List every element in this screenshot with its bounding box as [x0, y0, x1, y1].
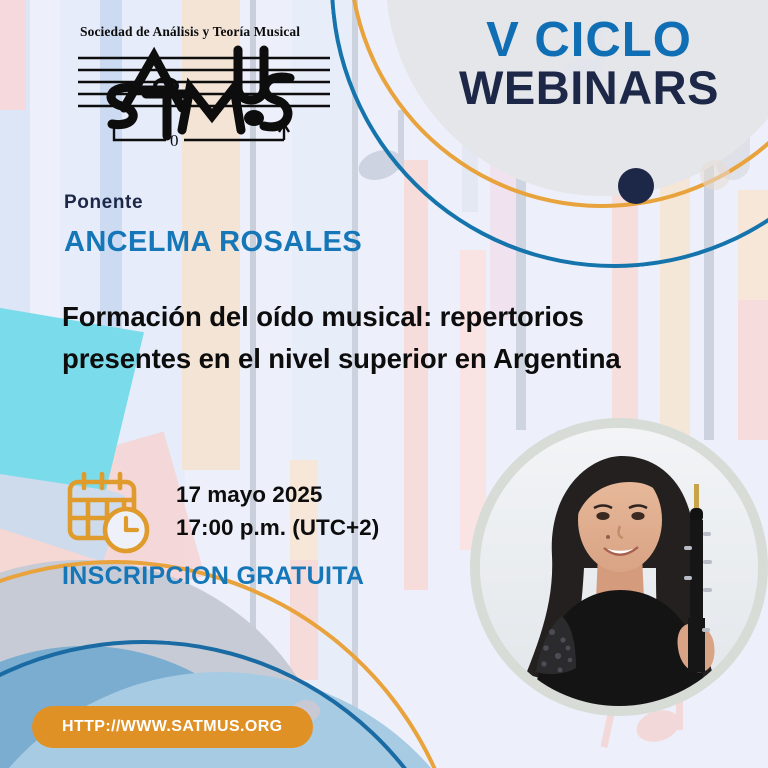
- logo-caption: Sociedad de Análisis y Teoría Musical: [80, 24, 348, 40]
- free-registration-text: INSCRIPCION GRATUITA: [62, 562, 364, 591]
- webinar-poster: Sociedad de Análisis y Teoría Musical: [0, 0, 768, 768]
- speaker-name: ANCELMA ROSALES: [64, 226, 362, 259]
- header-line-2: WEBINARS: [424, 64, 754, 111]
- satmus-staff-logo: 0: [78, 44, 340, 152]
- navy-dot: [618, 168, 654, 204]
- speaker-photo-ring: [470, 418, 768, 716]
- calendar-clock-icon: [62, 466, 154, 558]
- schedule-date: 17 mayo 2025: [176, 479, 379, 512]
- speaker-photo: [480, 428, 758, 706]
- talk-title: Formación del oído musical: repertorios …: [62, 296, 670, 380]
- schedule-block: 17 mayo 2025 17:00 p.m. (UTC+2): [62, 466, 379, 558]
- poster-header: V CICLO WEBINARS: [424, 16, 754, 111]
- header-line-1: V CICLO: [424, 16, 754, 64]
- speaker-portrait-illustration: [480, 428, 758, 706]
- decor-pink-top-bar: [0, 0, 26, 110]
- satmus-logo: Sociedad de Análisis y Teoría Musical: [78, 24, 348, 152]
- speaker-role-label: Ponente: [64, 192, 143, 214]
- decor-speckle-3: [700, 160, 730, 190]
- website-url-badge[interactable]: HTTP://WWW.SATMUS.ORG: [32, 706, 313, 748]
- schedule-time: 17:00 p.m. (UTC+2): [176, 512, 379, 545]
- svg-text:0: 0: [170, 131, 179, 150]
